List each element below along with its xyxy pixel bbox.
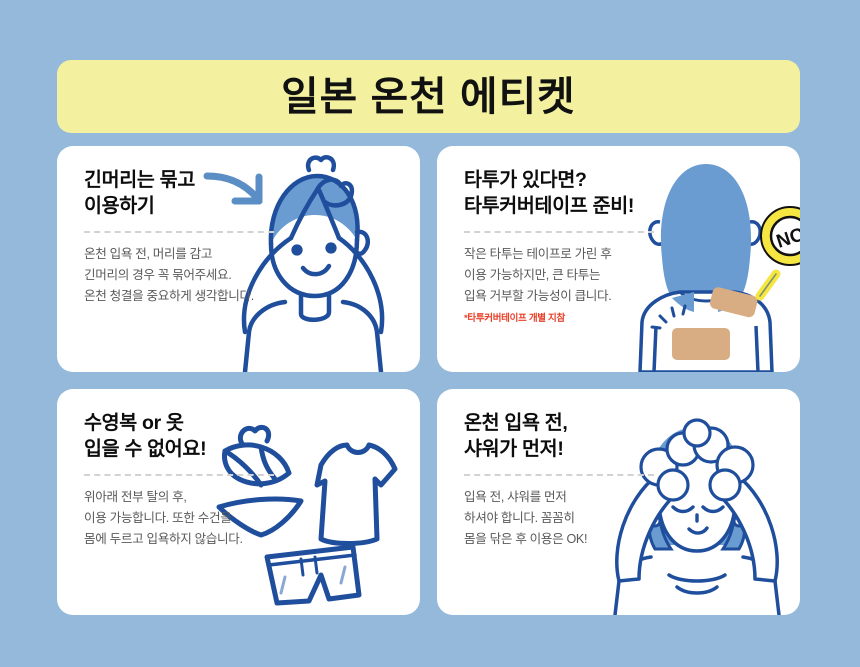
card-heading: 수영복 or 옷 입을 수 없어요! xyxy=(84,411,299,463)
divider xyxy=(464,474,654,476)
page-title: 일본 온천 에티켓 xyxy=(281,77,576,117)
card-heading: 타투가 있다면? 타투커버테이프 준비! xyxy=(464,168,679,220)
card-tattoo-text: 타투가 있다면? 타투커버테이프 준비! 작은 타투는 테이프로 가린 후 이용… xyxy=(464,168,679,324)
no-sign-badge: NO xyxy=(758,204,800,273)
card-long-hair[interactable]: 긴머리는 묶고 이용하기 온천 입욕 전, 머리를 감고 긴머리의 경우 꼭 묶… xyxy=(57,146,420,372)
title-banner: 일본 온천 에티켓 xyxy=(57,60,800,133)
card-body: 온천 입욕 전, 머리를 감고 긴머리의 경우 꼭 묶어주세요. 온천 청결을 … xyxy=(84,244,299,307)
infographic-page: 일본 온천 에티켓 xyxy=(0,0,860,667)
card-heading: 긴머리는 묶고 이용하기 xyxy=(84,168,299,220)
shorts-icon xyxy=(267,547,359,603)
card-no-clothes[interactable]: 수영복 or 옷 입을 수 없어요! 위아래 전부 탈의 후, 이용 가능합니다… xyxy=(57,389,420,615)
divider xyxy=(84,474,274,476)
card-shower-first[interactable]: 온천 입욕 전, 샤워가 먼저! 입욕 전, 샤워를 먼저 하셔야 합니다. 꼼… xyxy=(437,389,800,615)
card-body: 작은 타투는 테이프로 가린 후 이용 가능하지만, 큰 타투는 입욕 거부할 … xyxy=(464,244,679,307)
card-footnote: *타투커버테이프 개별 지참 xyxy=(464,310,679,324)
card-no-clothes-text: 수영복 or 옷 입을 수 없어요! 위아래 전부 탈의 후, 이용 가능합니다… xyxy=(84,411,299,550)
card-long-hair-text: 긴머리는 묶고 이용하기 온천 입욕 전, 머리를 감고 긴머리의 경우 꼭 묶… xyxy=(84,168,299,307)
divider xyxy=(84,231,274,233)
card-body: 위아래 전부 탈의 후, 이용 가능합니다. 또한 수건을 몸에 두르고 입욕하… xyxy=(84,487,299,550)
card-body: 입욕 전, 샤워를 먼저 하셔야 합니다. 꼼꼼히 몸을 닦은 후 이용은 OK… xyxy=(464,487,679,550)
card-heading: 온천 입욕 전, 샤워가 먼저! xyxy=(464,411,679,463)
cover-tape-back xyxy=(672,328,730,360)
card-grid: 긴머리는 묶고 이용하기 온천 입욕 전, 머리를 감고 긴머리의 경우 꼭 묶… xyxy=(57,146,800,617)
tshirt-icon xyxy=(317,445,395,544)
card-tattoo[interactable]: NO 타투가 있다면? 타투커버테이프 준비! 작은 타투는 테이프로 가린 후… xyxy=(437,146,800,372)
card-shower-first-text: 온천 입욕 전, 샤워가 먼저! 입욕 전, 샤워를 먼저 하셔야 합니다. 꼼… xyxy=(464,411,679,550)
divider xyxy=(464,231,654,233)
